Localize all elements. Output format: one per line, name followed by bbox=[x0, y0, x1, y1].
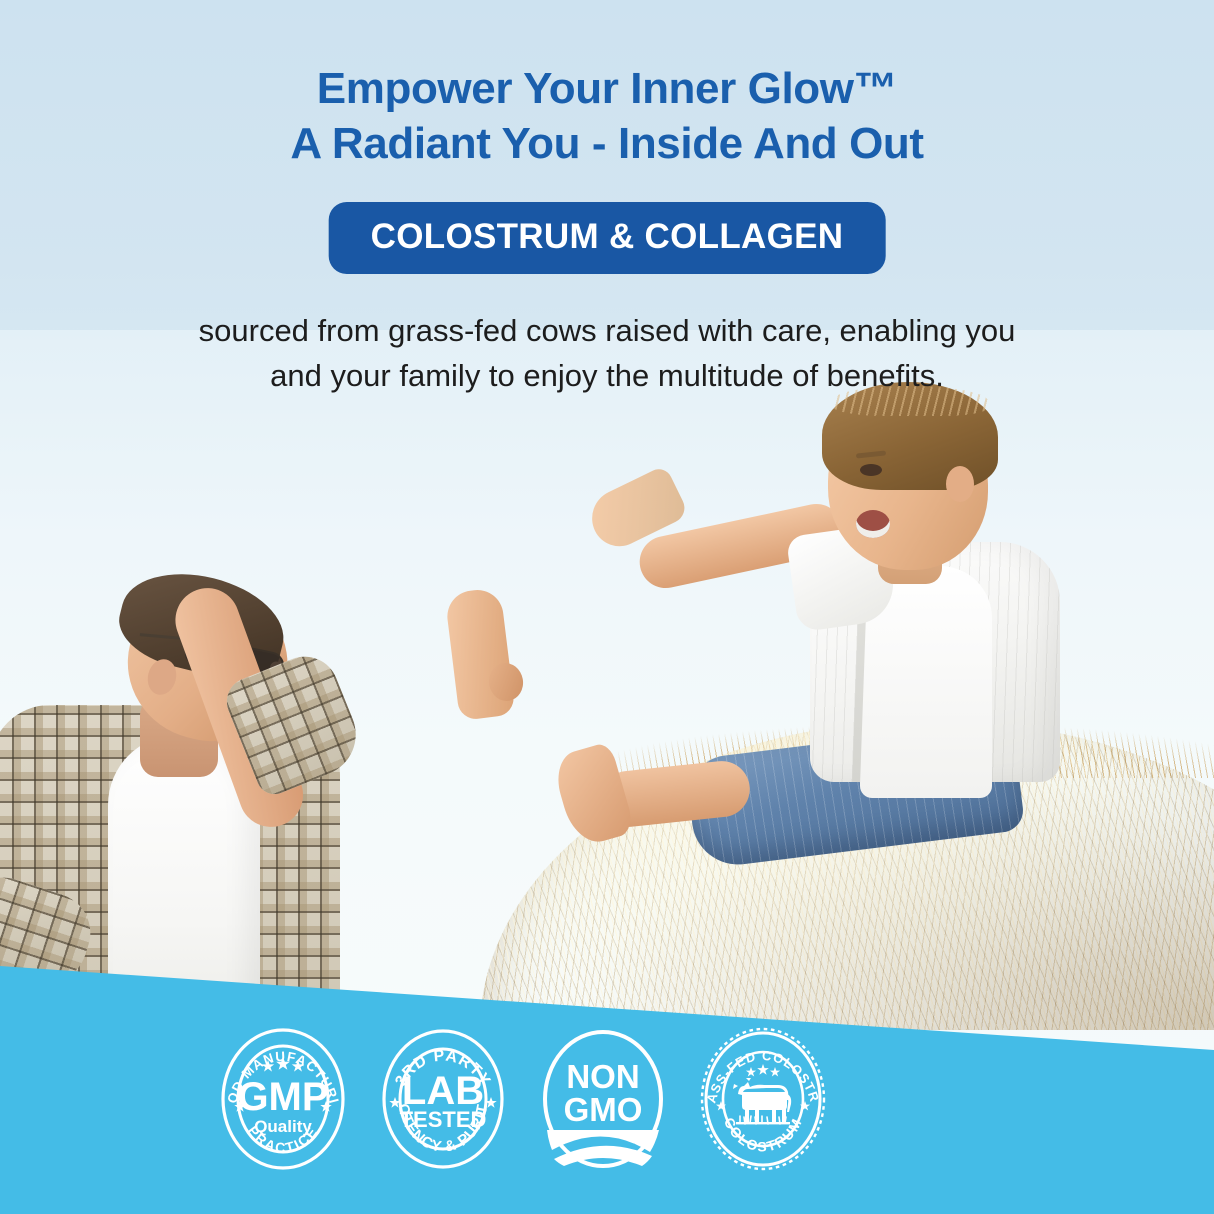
lab-tested-seal[interactable]: 3RD PARTY POTENCY & PURITY LAB TESTED bbox=[378, 1026, 508, 1172]
gmp-seal[interactable]: GOOD MANUFACTURING PRACTICE GMP Quality bbox=[218, 1026, 348, 1172]
svg-text:GMO: GMO bbox=[564, 1091, 643, 1128]
svg-text:Quality: Quality bbox=[254, 1117, 312, 1136]
certification-seal-row: GOOD MANUFACTURING PRACTICE GMP Quality bbox=[218, 1026, 818, 1172]
svg-text:TESTED: TESTED bbox=[400, 1107, 487, 1132]
svg-text:COLOSTRUM: COLOSTRUM bbox=[721, 1115, 805, 1155]
non-gmo-seal[interactable]: NON GMO bbox=[538, 1026, 668, 1172]
subcopy-text: sourced from grass-fed cows raised with … bbox=[0, 308, 1214, 399]
ad-canvas: Empower Your Inner Glow™ A Radiant You -… bbox=[0, 0, 1214, 1214]
boy-figure bbox=[560, 390, 1080, 870]
grass-fed-colostrum-seal[interactable]: GRASS-FED COLOSTRUM COLOSTRUM bbox=[698, 1026, 828, 1172]
svg-text:GMP: GMP bbox=[237, 1075, 328, 1119]
boy-ear bbox=[946, 466, 974, 502]
product-category-badge[interactable]: COLOSTRUM & COLLAGEN bbox=[329, 202, 886, 274]
boy-bare-foot bbox=[550, 741, 636, 848]
hero-photo bbox=[0, 330, 1214, 1030]
boy-eye bbox=[860, 464, 882, 476]
svg-text:NON: NON bbox=[566, 1058, 639, 1095]
boy-open-mouth bbox=[856, 510, 890, 538]
man-figure bbox=[0, 585, 420, 1030]
page-title: Empower Your Inner Glow™ A Radiant You -… bbox=[0, 62, 1214, 171]
